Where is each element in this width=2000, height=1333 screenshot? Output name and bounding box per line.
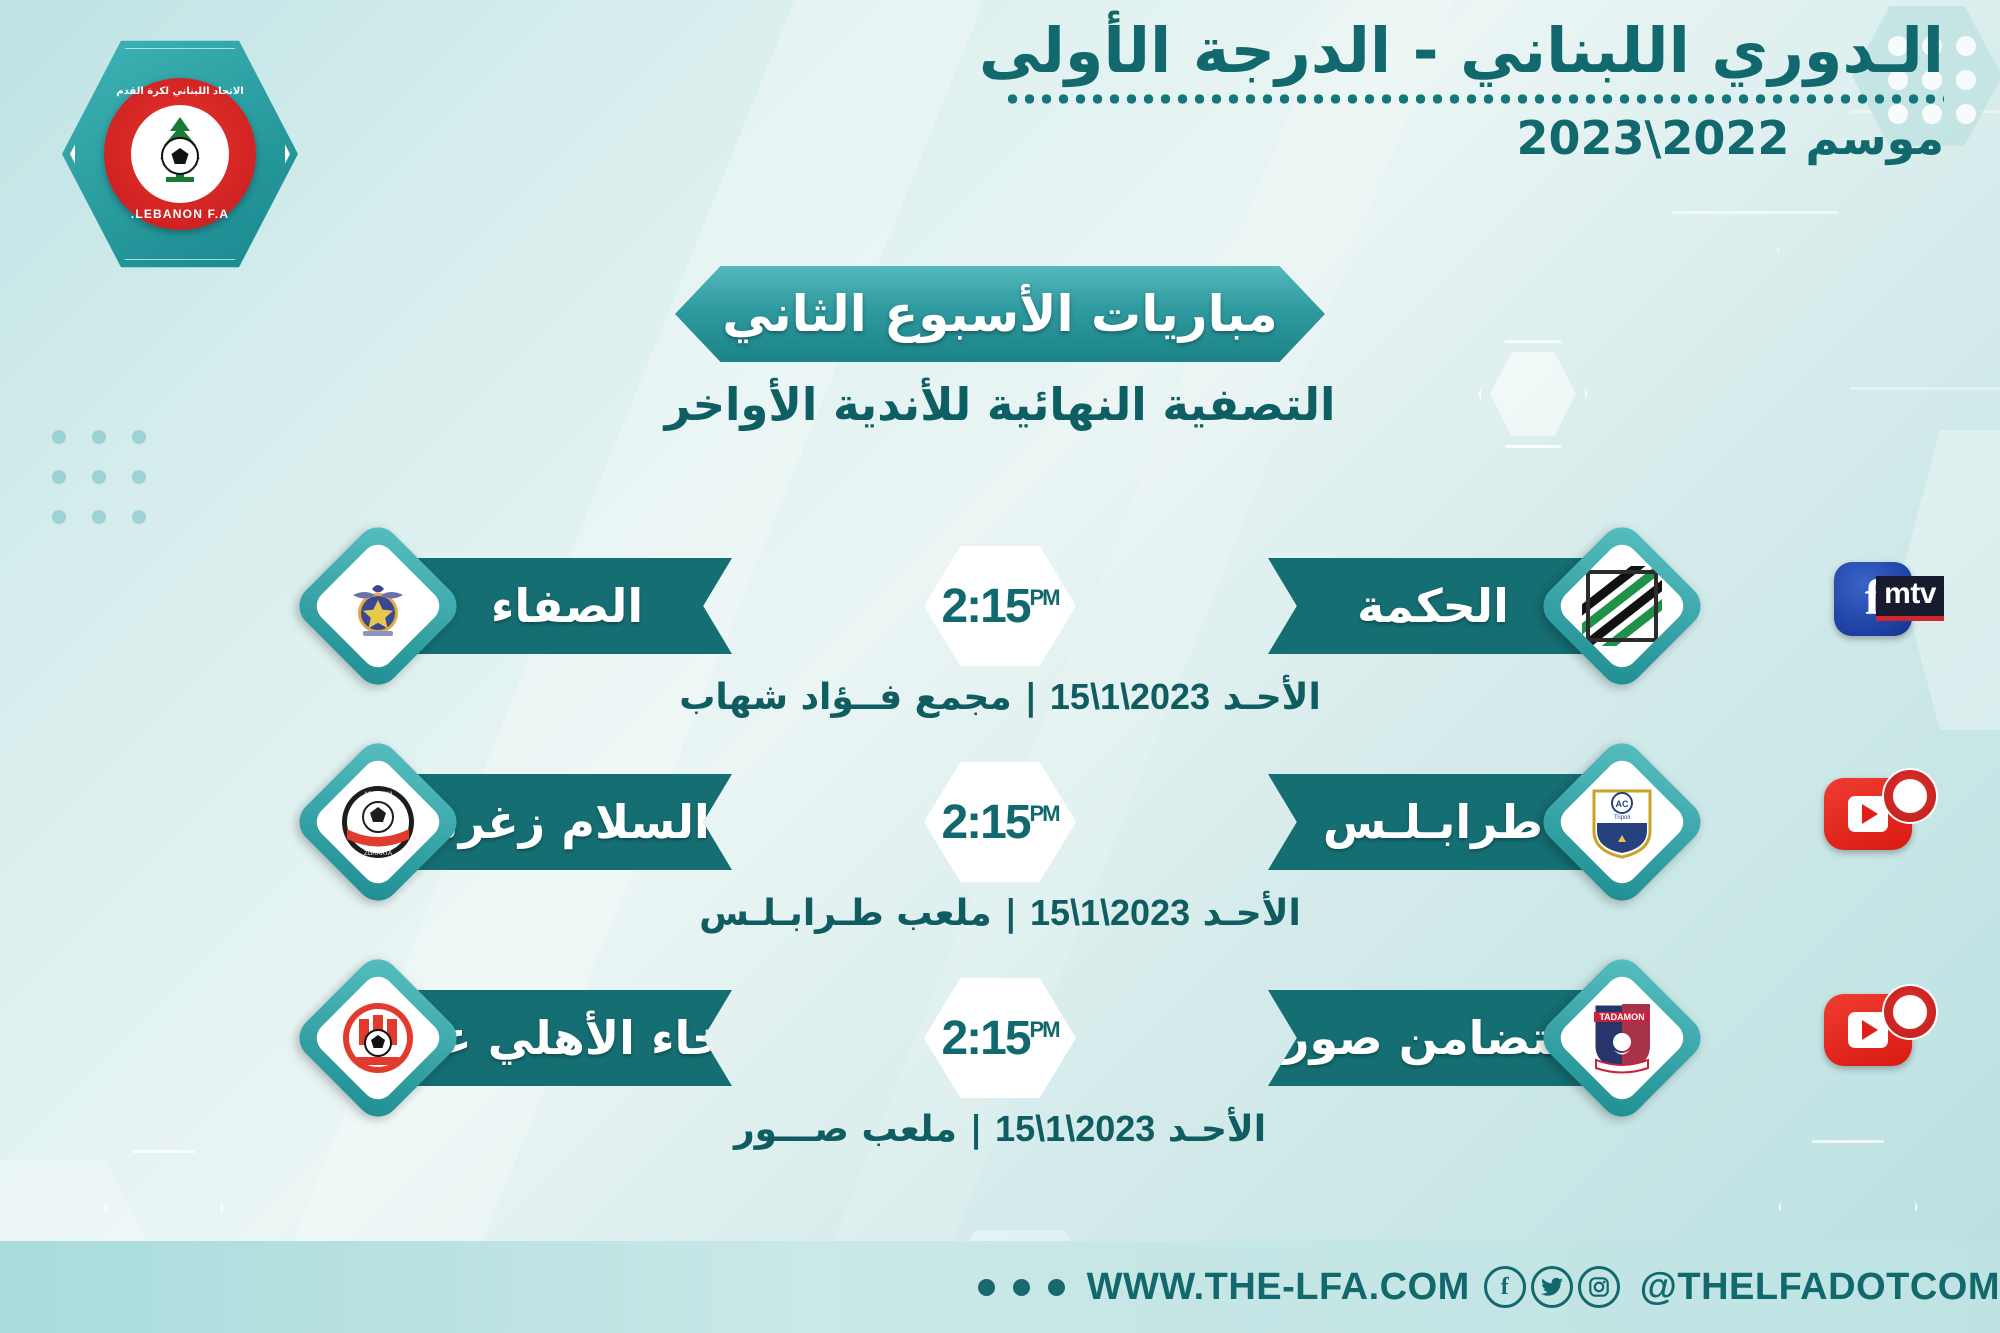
week-label: مباريات الأسبوع الثاني	[722, 285, 1277, 343]
away-team-crest	[290, 950, 465, 1125]
match-row: ASSALAM ZGHARTA السلام زغرتا 2:15PM طراب…	[0, 752, 2000, 968]
hekmeh-crest-icon	[1582, 566, 1662, 646]
lfa-channel-icon	[1882, 768, 1938, 824]
banner-subtitle: التصفية النهائية للأندية الأواخر	[665, 378, 1336, 431]
match-time-badge: 2:15PM	[924, 762, 1076, 882]
match-meta: الأحـد 15\1\2023 | ملعب صـــور	[0, 1108, 2000, 1150]
match-day: الأحـد	[1223, 677, 1321, 718]
match-meta: الأحـد 15\1\2023 | مجمع فــؤاد شهاب	[0, 676, 2000, 718]
match-time: 2:15PM	[941, 579, 1058, 634]
home-team-crest: TADAMON	[1534, 950, 1709, 1125]
lfa-logo-badge: الاتحاد اللبناني لكرة القدم LEBANON F.A.	[62, 36, 298, 272]
youtube-icon[interactable]	[1824, 778, 1912, 850]
facebook-icon[interactable]: f mtv	[1834, 562, 1912, 636]
match-meta: الأحـد 15\1\2023 | ملعب طـرابـلـس	[0, 892, 2000, 934]
ahli-aley-crest-icon	[339, 999, 417, 1077]
tripoli-crest-icon: AC Tripoli	[1584, 783, 1660, 861]
home-team-crest: AC Tripoli	[1534, 734, 1709, 909]
home-team-crest	[1534, 518, 1709, 693]
svg-text:Tripoli: Tripoli	[1614, 815, 1630, 821]
social-icons: f	[1484, 1266, 1620, 1308]
website-url[interactable]: WWW.THE-LFA.COM	[1087, 1266, 1470, 1309]
salam-zgharta-crest-icon: ASSALAM ZGHARTA	[339, 783, 417, 861]
svg-text:AC: AC	[1616, 799, 1629, 809]
match-row: الاخاء الأهلي عاليه 2:15PM التضامن صور T…	[0, 968, 2000, 1184]
meta-separator: |	[1024, 677, 1037, 718]
youtube-icon[interactable]	[1824, 994, 1912, 1066]
broadcasters	[1824, 994, 1912, 1066]
away-team-crest	[290, 518, 465, 693]
match-venue: ملعب صـــور	[734, 1109, 957, 1150]
match-date: 15\1\2023	[1050, 676, 1210, 718]
broadcasters: f mtv	[1834, 562, 1912, 636]
match-list: الصفاء 2:15PM الحكمة	[0, 536, 2000, 1184]
match-time-badge: 2:15PM	[924, 546, 1076, 666]
league-title: الـدوري اللبناني - الدرجة الأولى	[844, 18, 1944, 85]
football-icon	[161, 137, 199, 175]
match-day: الأحـد	[1168, 1109, 1266, 1150]
social-handle[interactable]: @THELFADOTCOM	[1640, 1266, 2000, 1309]
lfa-channel-icon	[1882, 984, 1938, 1040]
match-row: الصفاء 2:15PM الحكمة	[0, 536, 2000, 752]
instagram-icon[interactable]	[1578, 1266, 1620, 1308]
away-team-crest: ASSALAM ZGHARTA	[290, 734, 465, 909]
home-team-name: طرابـلـس	[1323, 795, 1543, 849]
tadamon-sour-crest-icon: TADAMON	[1584, 998, 1660, 1078]
away-team-name: السلام زغرتا	[424, 795, 710, 849]
week-banner: مباريات الأسبوع الثاني	[675, 266, 1325, 362]
lfa-english-text: LEBANON F.A.	[104, 207, 256, 221]
twitter-bird-glyph	[1541, 1277, 1563, 1297]
svg-text:ZGHARTA: ZGHARTA	[364, 851, 392, 857]
svg-text:ASSALAM: ASSALAM	[364, 792, 392, 798]
mtv-logo-icon: mtv	[1876, 576, 1944, 621]
twitter-icon[interactable]	[1531, 1266, 1573, 1308]
title-divider	[1004, 93, 1944, 105]
lebanon-fa-crest-icon: الاتحاد اللبناني لكرة القدم LEBANON F.A.	[104, 78, 256, 230]
safa-crest-icon	[341, 569, 415, 643]
instagram-glyph	[1588, 1276, 1610, 1298]
lfa-arabic-text: الاتحاد اللبناني لكرة القدم	[104, 86, 256, 97]
footer-dots-decoration	[978, 1279, 1065, 1296]
match-venue: ملعب طـرابـلـس	[699, 893, 992, 934]
match-time: 2:15PM	[941, 795, 1058, 850]
facebook-icon[interactable]: f	[1484, 1266, 1526, 1308]
broadcasters	[1824, 778, 1912, 850]
match-date: 15\1\2023	[1030, 892, 1190, 934]
match-venue: مجمع فــؤاد شهاب	[679, 677, 1011, 718]
svg-text:TADAMON: TADAMON	[1599, 1012, 1644, 1022]
home-team-name: التضامن صور	[1283, 1011, 1583, 1065]
match-time: 2:15PM	[941, 1011, 1058, 1066]
match-time-badge: 2:15PM	[924, 978, 1076, 1098]
meta-separator: |	[1004, 893, 1017, 934]
header-title-block: الـدوري اللبناني - الدرجة الأولى موسم 20…	[844, 18, 1944, 165]
footer-bar: WWW.THE-LFA.COM f @THELFADOTCOM	[0, 1241, 2000, 1333]
home-team-name: الحكمة	[1357, 579, 1509, 633]
away-team-name: الصفاء	[491, 579, 643, 633]
season-label: موسم 2022\2023	[844, 111, 1944, 165]
match-day: الأحـد	[1203, 893, 1301, 934]
meta-separator: |	[969, 1109, 982, 1150]
match-date: 15\1\2023	[995, 1108, 1155, 1150]
